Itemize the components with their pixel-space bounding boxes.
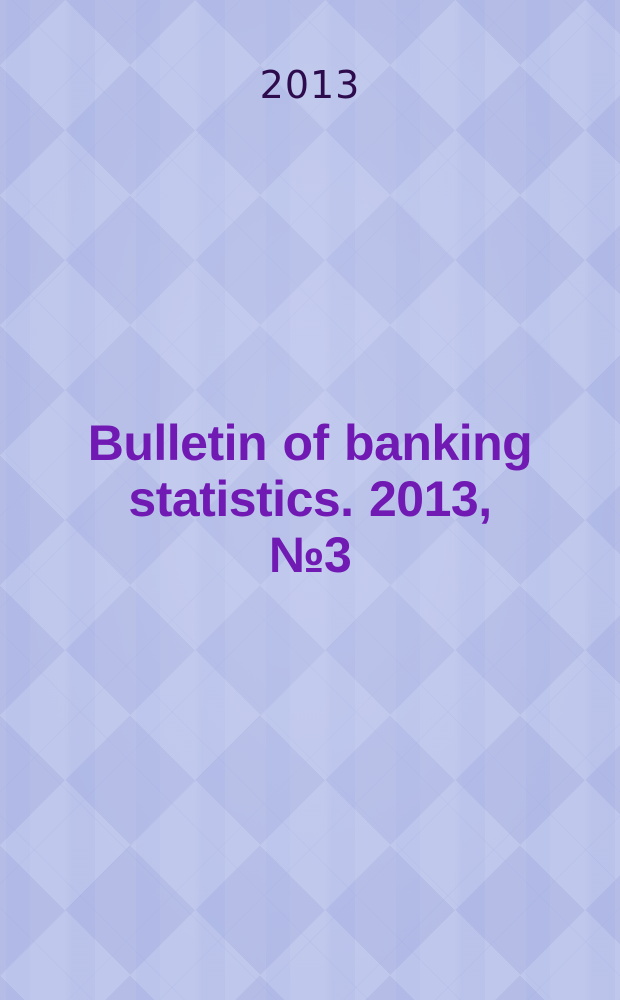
cover-title-line-2: statistics. 2013, xyxy=(50,471,570,527)
cover-title-line-3: №3 xyxy=(50,527,570,583)
book-cover: 2013 Bulletin of banking statistics. 201… xyxy=(0,0,620,1000)
cover-year-label: 2013 xyxy=(0,66,620,104)
cover-title: Bulletin of banking statistics. 2013, №3 xyxy=(50,415,570,583)
cover-title-line-1: Bulletin of banking xyxy=(50,415,570,471)
